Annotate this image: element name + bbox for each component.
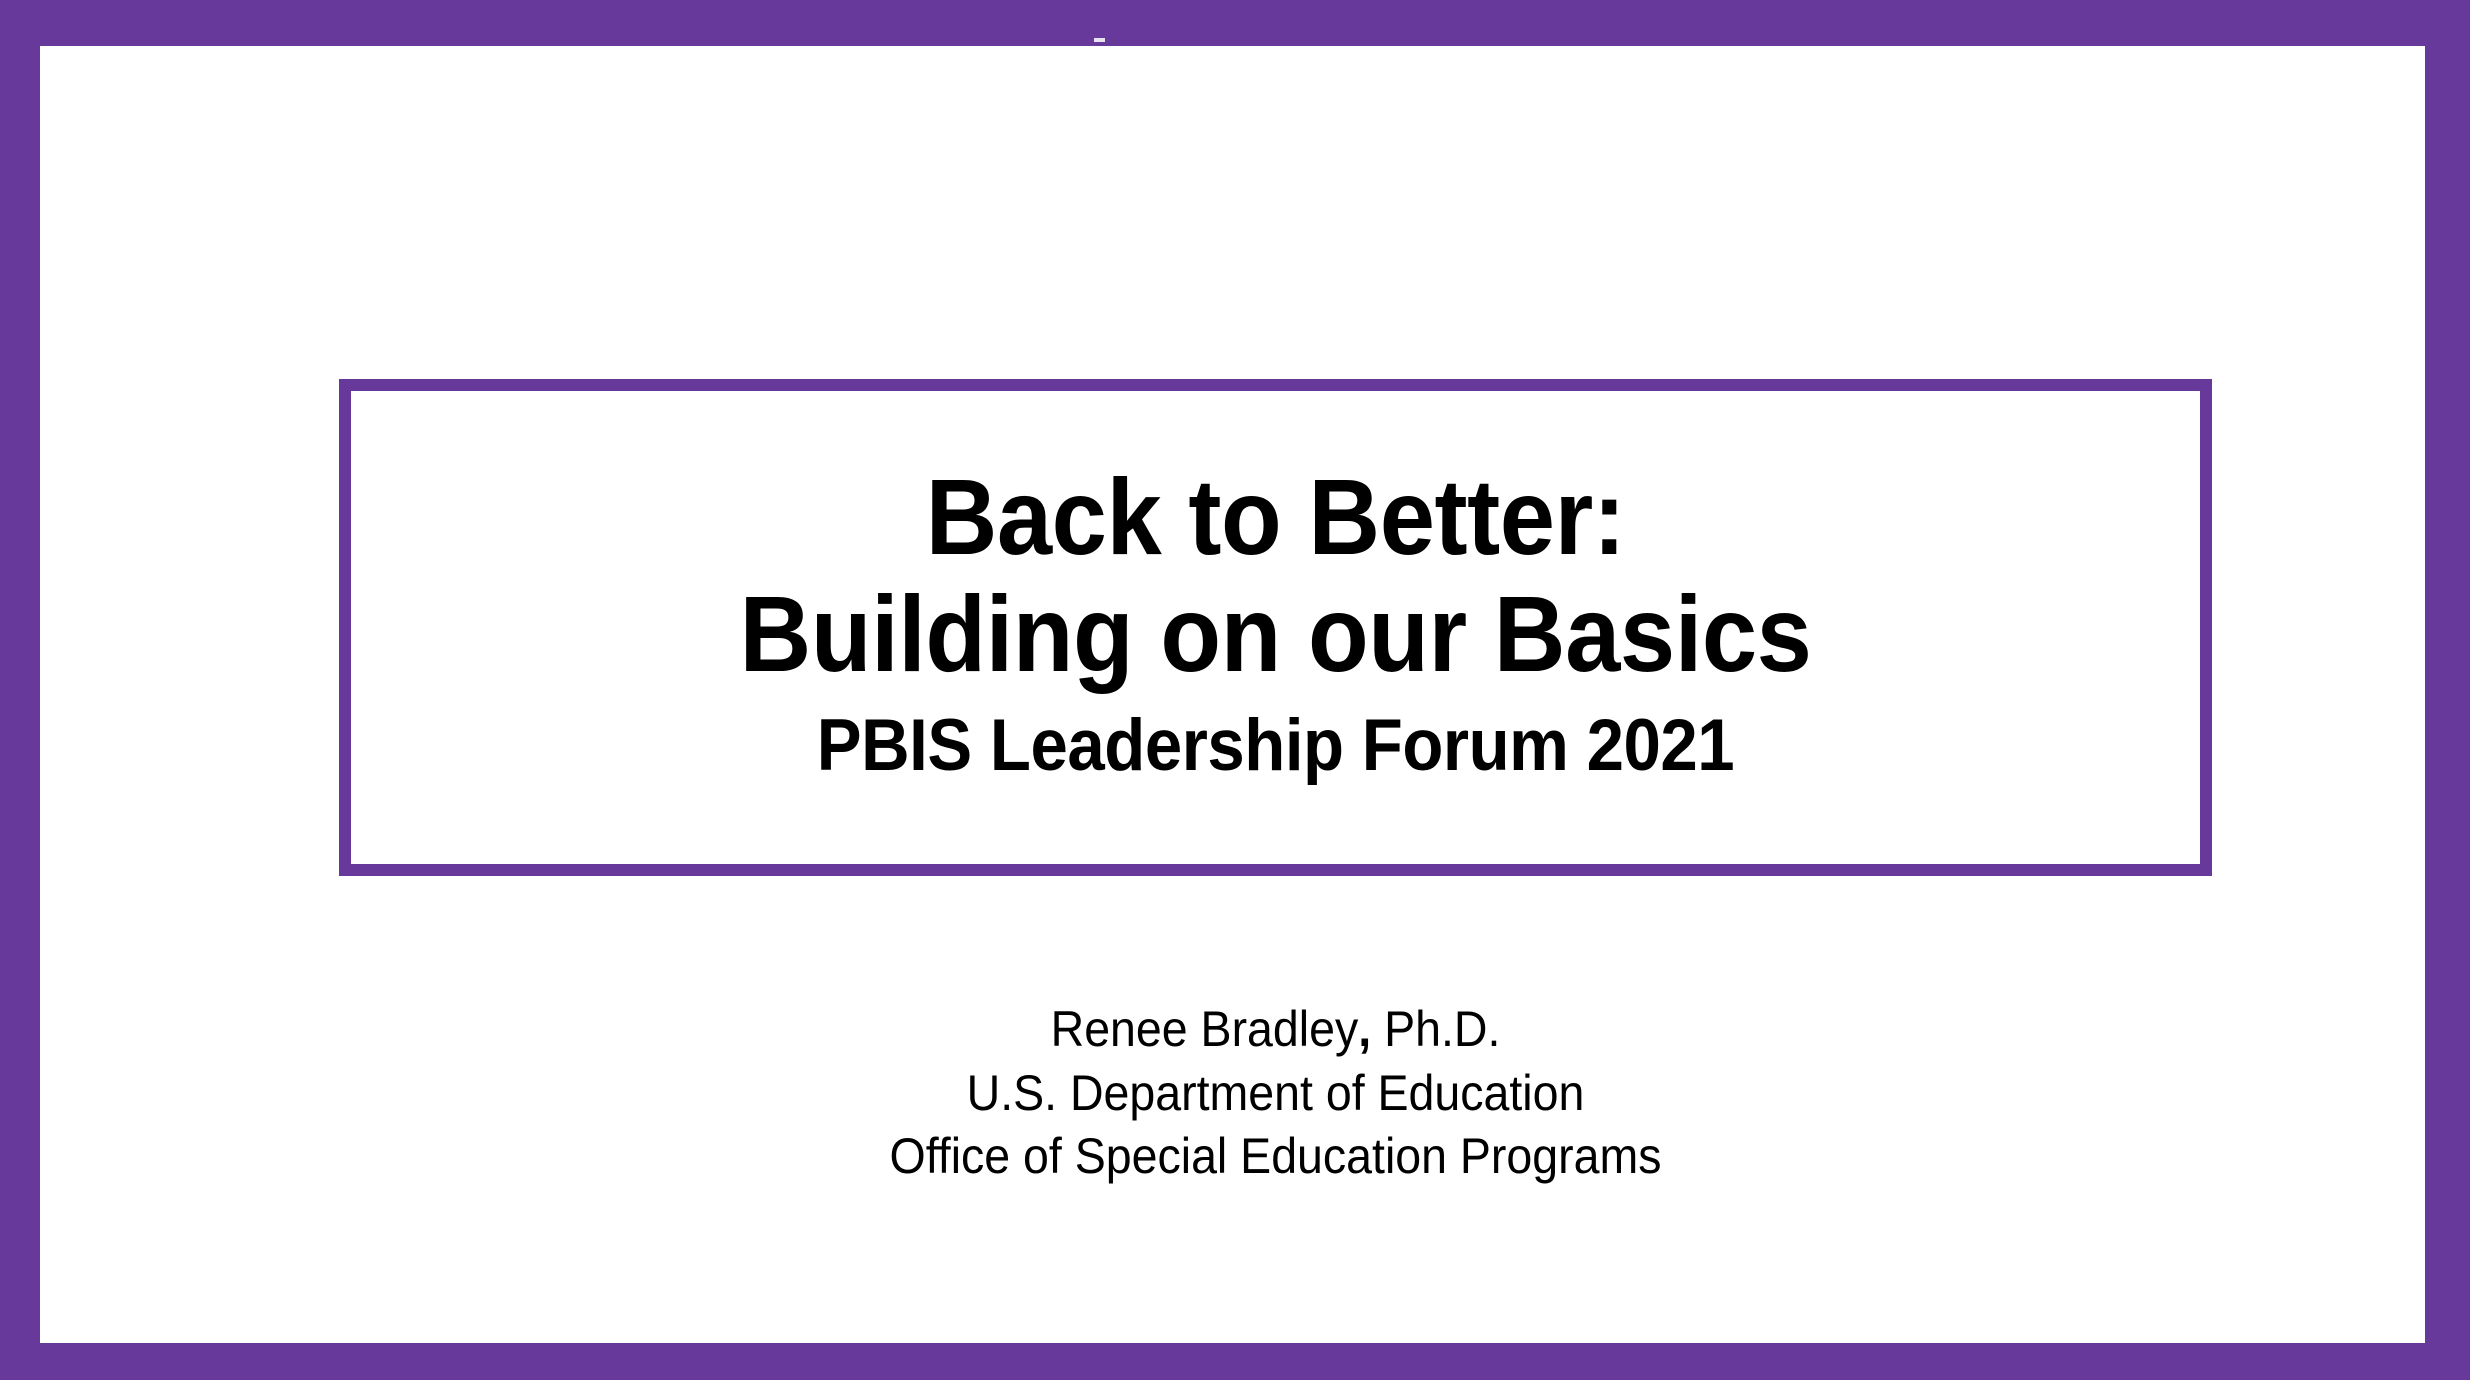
byline-credential-text: Ph.D.: [1371, 1001, 1500, 1057]
title-textbox[interactable]: Back to Better: Building on our Basics P…: [339, 379, 2212, 876]
presenter-byline-block[interactable]: Renee Bradley, Ph.D. U.S. Department of …: [339, 998, 2212, 1189]
slide-white-content-area: Back to Better: Building on our Basics P…: [40, 46, 2425, 1343]
byline-name-text: Renee Bradley: [1051, 1001, 1359, 1057]
slide-canvas-frame: Back to Better: Building on our Basics P…: [0, 0, 2470, 1380]
title-line-1: Back to Better:: [425, 459, 2126, 576]
byline-organization: U.S. Department of Education: [405, 1062, 2147, 1126]
title-line-2: Building on our Basics: [425, 576, 2126, 693]
byline-office: Office of Special Education Programs: [405, 1125, 2147, 1189]
byline-name-comma: ,: [1358, 1001, 1371, 1057]
byline-presenter-name: Renee Bradley, Ph.D.: [405, 998, 2147, 1062]
top-border-notch-artifact: [1094, 38, 1105, 42]
title-subtitle-line: PBIS Leadership Forum 2021: [425, 702, 2126, 790]
